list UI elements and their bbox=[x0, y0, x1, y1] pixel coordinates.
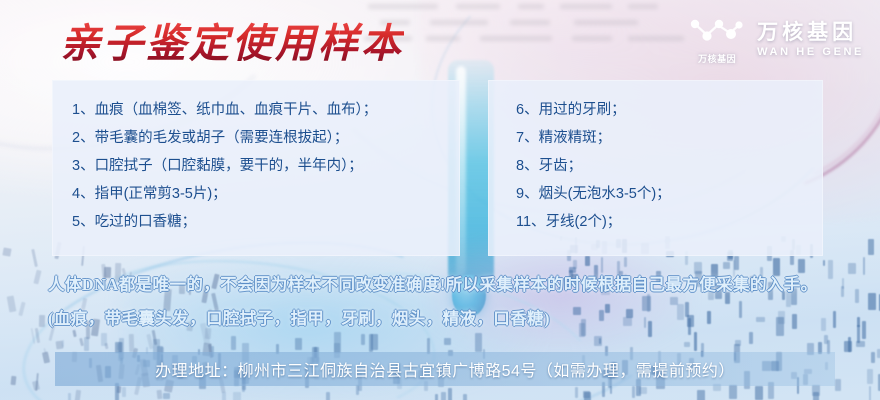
sample-list-panel-right: 6、用过的牙刷； 7、精液精斑； 8、牙齿； 9、烟头(无泡水3-5个)； 11… bbox=[488, 80, 823, 256]
brand-logo: 万核基因 万核基因 WAN HE GENE bbox=[687, 18, 864, 64]
logo-text-block: 万核基因 WAN HE GENE bbox=[757, 20, 864, 62]
list-item: 1、血痕（血棉签、纸巾血、血痕干片、血布）； bbox=[72, 96, 460, 124]
brand-name-en: WAN HE GENE bbox=[757, 45, 864, 60]
list-item: 3、口腔拭子（口腔黏膜，要干的，半年内）； bbox=[72, 152, 460, 180]
list-item: 11、牙线(2个)； bbox=[516, 208, 823, 236]
sample-list-right: 6、用过的牙刷； 7、精液精斑； 8、牙齿； 9、烟头(无泡水3-5个)； 11… bbox=[488, 80, 823, 236]
poster-canvas: 亲子鉴定使用样本 万核基因 万核基因 bbox=[0, 0, 880, 400]
list-item: 6、用过的牙刷； bbox=[516, 96, 823, 124]
list-item: 9、烟头(无泡水3-5个)； bbox=[516, 180, 823, 208]
page-title: 亲子鉴定使用样本 bbox=[60, 18, 404, 70]
list-item: 2、带毛囊的毛发或胡子（需要连根拔起）； bbox=[72, 124, 460, 152]
address-text: 办理地址：柳州市三江侗族自治县古宜镇广博路54号（如需办理，需提前预约） bbox=[155, 357, 735, 381]
sample-list-left: 1、血痕（血棉签、纸巾血、血痕干片、血布）； 2、带毛囊的毛发或胡子（需要连根拔… bbox=[52, 80, 460, 236]
brand-name-cn: 万核基因 bbox=[757, 20, 864, 45]
sample-list-panel-left: 1、血痕（血棉签、纸巾血、血痕干片、血布）； 2、带毛囊的毛发或胡子（需要连根拔… bbox=[52, 80, 460, 256]
address-bar: 办理地址：柳州市三江侗族自治县古宜镇广博路54号（如需办理，需提前预约） bbox=[55, 352, 835, 386]
list-item: 5、吃过的口香糖； bbox=[72, 208, 460, 236]
note-paragraph: 人体DNA都是唯一的，不会因为样本不同改变准确度!所以采集样本的时候根据自己最方… bbox=[48, 268, 838, 336]
logo-mark-caption: 万核基因 bbox=[687, 52, 747, 65]
list-item: 8、牙齿； bbox=[516, 152, 823, 180]
logo-mark: 万核基因 bbox=[687, 18, 747, 64]
molecule-nodes-icon bbox=[687, 16, 747, 50]
list-item: 7、精液精斑； bbox=[516, 124, 823, 152]
list-item: 4、指甲(正常剪3-5片)； bbox=[72, 180, 460, 208]
